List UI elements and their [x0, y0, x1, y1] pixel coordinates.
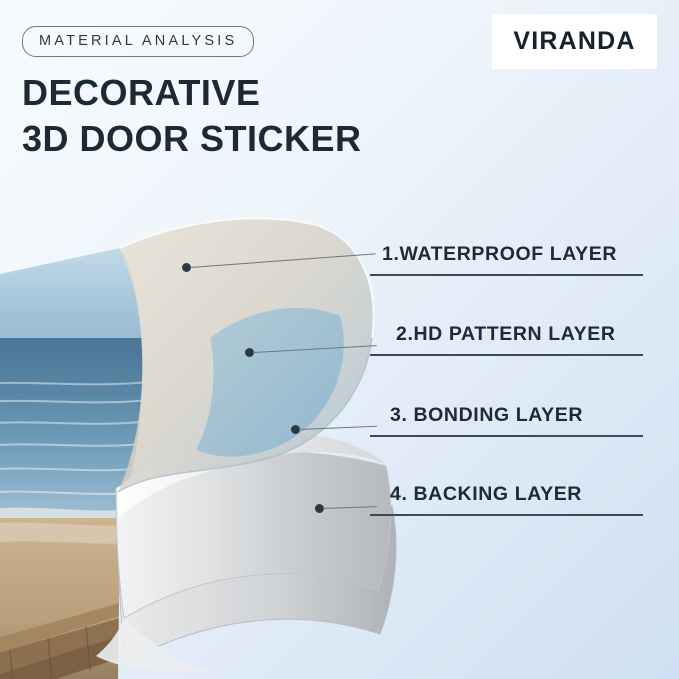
callout-label-1: 1.WATERPROOF LAYER [382, 243, 617, 272]
sticker-artwork-svg [0, 188, 440, 679]
callout-label-2: 2.HD PATTERN LAYER [396, 323, 616, 352]
sticker-illustration [0, 188, 440, 679]
callout-label-4: 4. BACKING LAYER [390, 483, 582, 512]
eyebrow-badge: MATERIAL ANALYSIS [22, 26, 254, 57]
title-line-1: DECORATIVE [22, 70, 362, 116]
callout-label-3: 3. BONDING LAYER [390, 404, 583, 433]
material-analysis-infographic: MATERIAL ANALYSIS DECORATIVE 3D DOOR STI… [0, 0, 679, 679]
page-title: DECORATIVE 3D DOOR STICKER [22, 70, 362, 162]
callout-rule-4 [370, 514, 643, 516]
brand-name: VIRANDA [513, 27, 635, 56]
callout-rule-2 [370, 354, 643, 356]
callout-rule-1 [370, 274, 643, 276]
callout-rule-3 [370, 435, 643, 437]
brand-logo-box: VIRANDA [492, 14, 657, 69]
title-line-2: 3D DOOR STICKER [22, 116, 362, 162]
